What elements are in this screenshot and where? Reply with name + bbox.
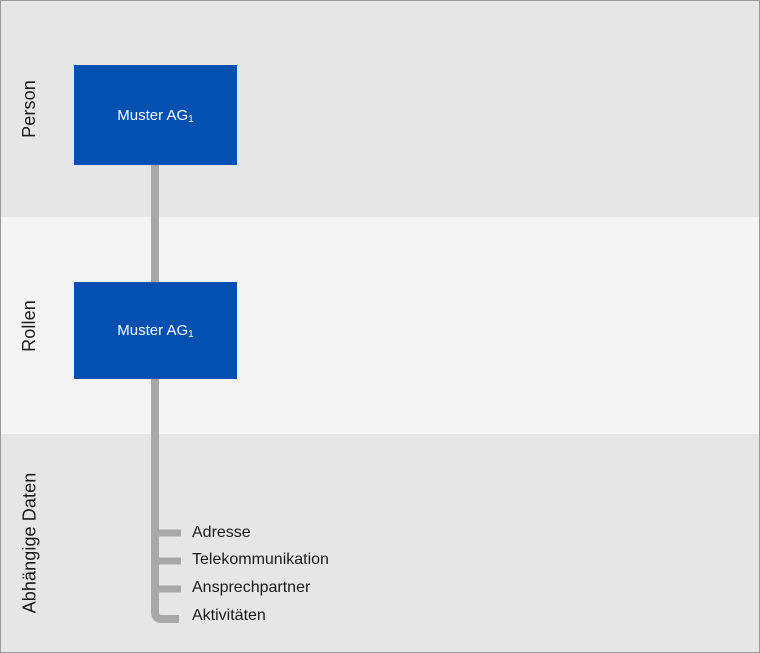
entity-node-rollen-name: Muster AG	[117, 322, 188, 339]
entity-node-person-name: Muster AG	[117, 107, 188, 124]
dependent-data-item-ansprechpartner[interactable]: Ansprechpartner	[192, 580, 310, 596]
lane-label-rollen-text: Rollen	[20, 300, 38, 352]
entity-node-person-label: Muster AG1	[117, 107, 193, 124]
dependent-data-item-telekommunikation[interactable]: Telekommunikation	[192, 552, 329, 568]
lane-label-abhaengige-daten: Abhängige Daten	[1, 434, 57, 652]
entity-node-rollen-index: 1	[188, 329, 194, 340]
entity-node-person-index: 1	[188, 114, 194, 125]
lane-label-person: Person	[1, 1, 57, 217]
entity-node-person[interactable]: Muster AG1	[74, 65, 237, 165]
dependent-data-item-aktivitaeten[interactable]: Aktivitäten	[192, 608, 266, 624]
lane-label-rollen: Rollen	[1, 217, 57, 434]
entity-node-rollen-label: Muster AG1	[117, 322, 193, 339]
lane-label-abhaengige-daten-text: Abhängige Daten	[20, 473, 38, 614]
lane-label-person-text: Person	[20, 80, 38, 138]
dependent-data-item-adresse[interactable]: Adresse	[192, 525, 251, 541]
swimlane-band-abhaengige-daten	[1, 434, 759, 652]
diagram-canvas: Person Rollen Abhängige Daten Muster AG1…	[0, 0, 760, 653]
entity-node-rollen[interactable]: Muster AG1	[74, 282, 237, 379]
